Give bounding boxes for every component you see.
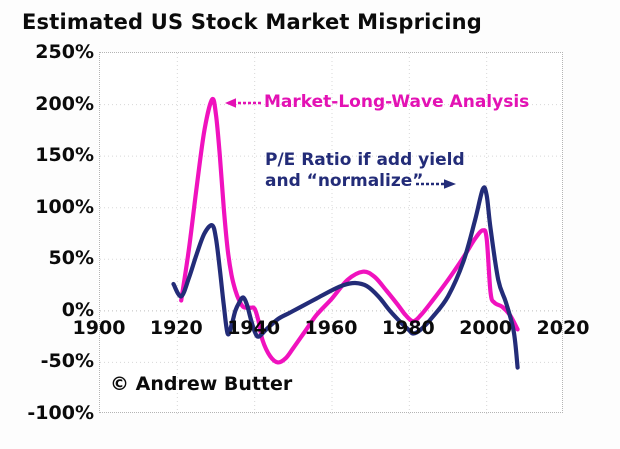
annotation-pe-ratio: P/E Ratio if add yield and “normalize” — [265, 150, 465, 191]
x-tick-label: 1940 — [227, 317, 280, 339]
x-tick-label: 2000 — [459, 317, 512, 339]
left-arrow-icon — [224, 96, 262, 110]
x-tick-label: 2020 — [537, 317, 590, 339]
copyright-notice: © Andrew Butter — [110, 373, 292, 395]
chart-page: Estimated US Stock Market Mispricing 250… — [0, 0, 620, 449]
annotation-market-long-wave: Market-Long-Wave Analysis — [264, 92, 529, 113]
x-axis: 1900192019401960198020002020 — [0, 0, 620, 449]
x-tick-label: 1980 — [382, 317, 435, 339]
annotation-navy-line1: P/E Ratio if add yield — [265, 150, 465, 170]
x-tick-label: 1920 — [150, 317, 203, 339]
annotation-magenta-text: Market-Long-Wave Analysis — [264, 92, 529, 112]
x-tick-label: 1900 — [73, 317, 126, 339]
right-arrow-icon — [415, 177, 457, 191]
x-tick-label: 1960 — [305, 317, 358, 339]
